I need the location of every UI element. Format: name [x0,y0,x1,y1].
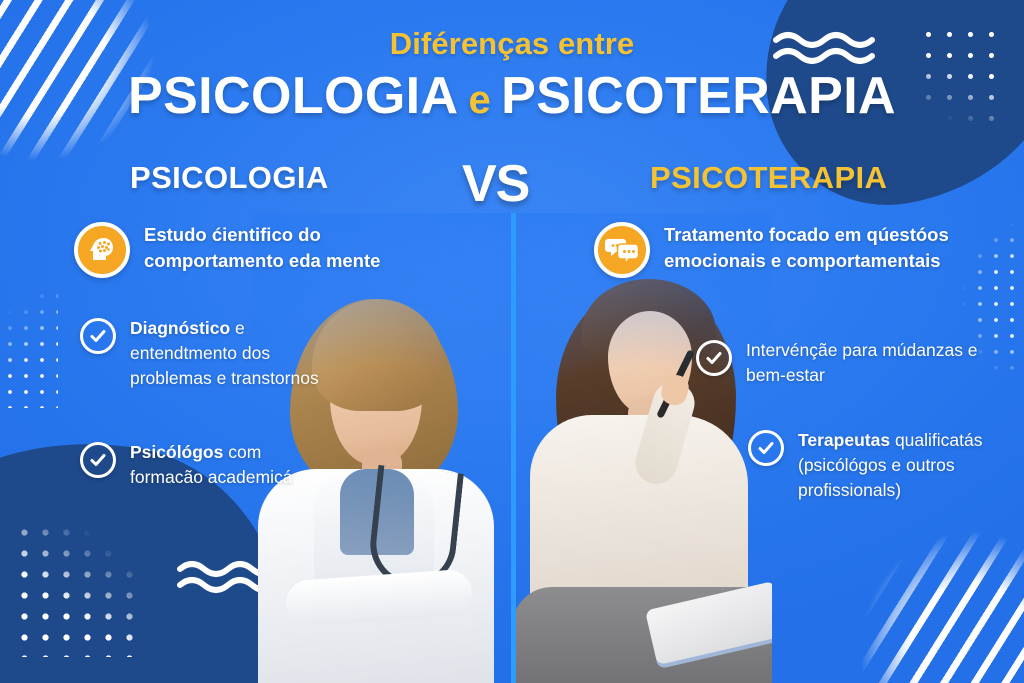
title-left: PSICOLOGIA [128,67,458,125]
list-item-emphasis: Terapeutas [798,430,890,450]
list-item-text: Tratamento focado em qúestóos emocionais… [664,222,964,275]
list-item: Intervénçãe para múdanzas e bem-estar [696,338,986,388]
diagonal-stripes-bottom-right-shape [834,513,1024,683]
check-circle-icon [80,318,116,354]
brain-head-icon [74,222,130,278]
header: Diférenças entre PSICOLOGIAePSICOTERAPIA [0,0,1024,126]
infographic-canvas: Diférenças entre PSICOLOGIAePSICOTERAPIA… [0,0,1024,683]
check-glyph [88,450,108,470]
dot-grid-left-shape [0,288,58,408]
check-circle-icon [748,430,784,466]
page-title: PSICOLOGIAePSICOTERAPIA [0,66,1024,126]
vs-badge: VS [462,154,529,214]
photo-vignette [512,213,772,683]
brain-head-glyph [85,233,119,267]
kicker-title: Diférenças entre [0,26,1024,62]
list-item: Diagnóstico e entendtmento dos problemas… [80,316,330,391]
therapy-client-photo [512,213,772,683]
title-conjunction: e [458,78,501,122]
check-glyph [704,348,724,368]
center-divider [511,213,516,683]
list-item-emphasis: Psicólógos [130,442,223,462]
column-headings: PSICOLOGIA VS PSICOTERAPIA [0,160,1024,208]
list-item: Estudo ćientifico do comportamento eda m… [74,222,454,278]
list-item: Psicólógos com formacão academicá [80,440,330,490]
check-glyph [756,438,776,458]
check-glyph [88,326,108,346]
column-heading-psicoterapia: PSICOTERAPIA [650,160,887,196]
list-item-text: Intervénçãe para múdanzas e bem-estar [746,338,986,388]
check-circle-icon [696,340,732,376]
title-right: PSICOTERAPIA [501,67,896,125]
list-item-text: Terapeutas qualificatás (psicólógos e ou… [798,428,1020,503]
speech-bubbles-icon [594,222,650,278]
list-item-text: Psicólógos com formacão academicá [130,440,330,490]
list-item-emphasis: Diagnóstico [130,318,230,338]
list-item: Terapeutas qualificatás (psicólógos e ou… [748,428,1020,503]
list-item-text: Estudo ćientifico do comportamento eda m… [144,222,454,275]
column-heading-psicologia: PSICOLOGIA [130,160,329,196]
list-item-text: Diagnóstico e entendtmento dos problemas… [130,316,330,391]
photo-pair [252,213,772,683]
check-circle-icon [80,442,116,478]
list-item: Tratamento focado em qúestóos emocionais… [594,222,964,278]
speech-bubbles-glyph [605,235,639,265]
dot-grid-bottom-left-shape [14,522,134,657]
